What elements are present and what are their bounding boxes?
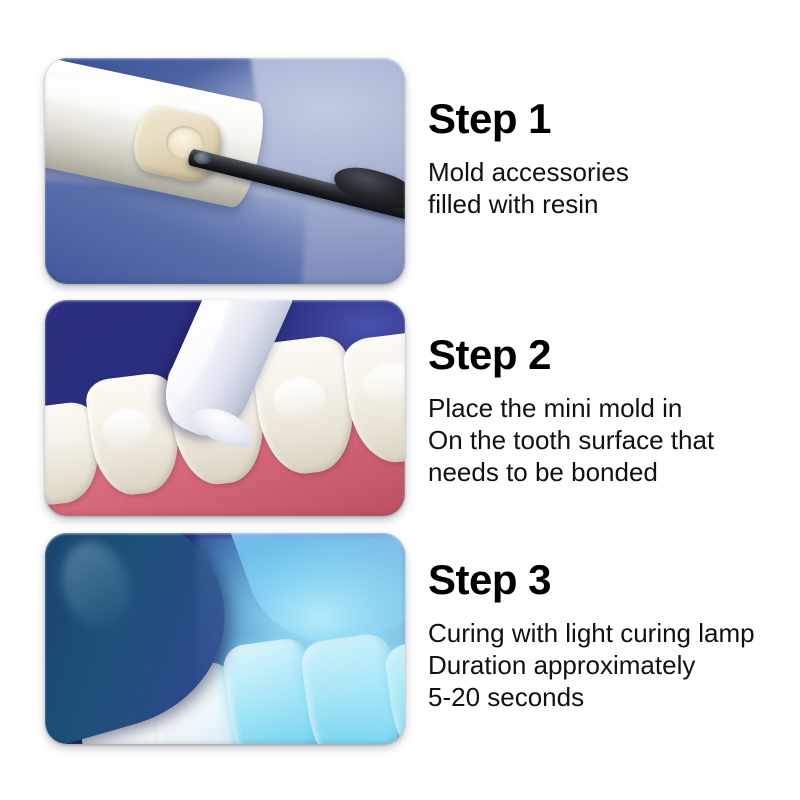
instruction-sheet: Step 1 Mold accessories filled with resi… [0,0,800,800]
step-3-heading: Step 3 [428,559,800,601]
step-1-photo-image [45,58,405,284]
step-2-body: Place the mini mold in On the tooth surf… [428,392,800,488]
step-2-text: Step 2 Place the mini mold in On the too… [405,300,800,488]
step-2-photo-image [45,300,405,516]
step-1-body: Mold accessories filled with resin [428,156,800,220]
step-3-text: Step 3 Curing with light curing lamp Dur… [405,533,800,713]
step-2-heading: Step 2 [428,334,800,376]
step-3-photo-image [45,533,405,744]
step-row: Step 3 Curing with light curing lamp Dur… [45,533,800,744]
step-1-text: Step 1 Mold accessories filled with resi… [405,58,800,220]
step-3-photo [45,533,405,744]
step-3-body: Curing with light curing lamp Duration a… [428,617,800,713]
step-1-photo [45,58,405,284]
step-2-photo [45,300,405,516]
step-1-heading: Step 1 [428,98,800,140]
step-row: Step 1 Mold accessories filled with resi… [45,58,800,284]
step-row: Step 2 Place the mini mold in On the too… [45,300,800,516]
